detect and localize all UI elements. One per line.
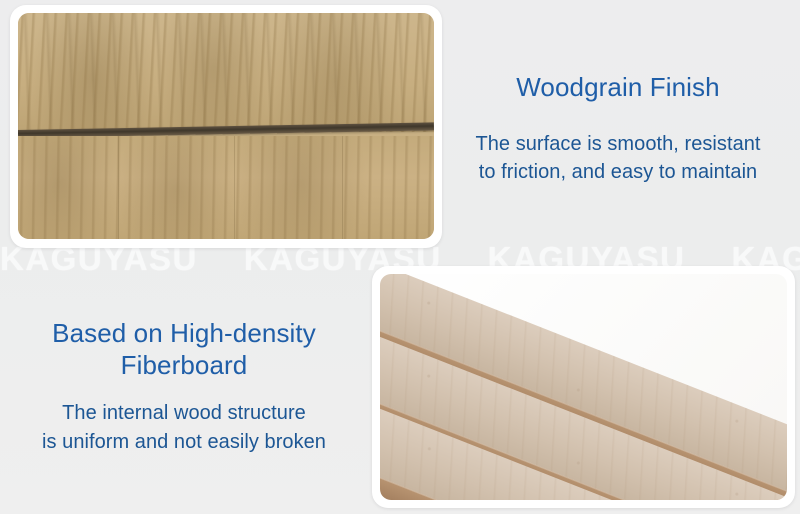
woodgrain-body-line-1: The surface is smooth, resistant <box>442 130 794 158</box>
wood-upper-panel <box>18 13 434 132</box>
fiberboard-photo-image <box>380 274 787 500</box>
woodgrain-feature-text: Woodgrain Finish The surface is smooth, … <box>442 72 794 187</box>
fiberboard-body-line-2: is uniform and not easily broken <box>8 428 360 456</box>
fiberboard-heading-line-1: Based on High-density <box>52 318 316 348</box>
product-feature-graphic: KAGUYASU KAGUYASU KAGUYASU KAGUYASU Wood… <box>0 0 800 514</box>
fiberboard-body-line-1: The internal wood structure <box>8 399 360 427</box>
fiberboard-feature-text: Based on High-density Fiberboard The int… <box>8 318 360 456</box>
fiberboard-photo <box>372 266 795 508</box>
woodgrain-photo <box>10 5 442 248</box>
woodgrain-photo-image <box>18 13 434 239</box>
fiberboard-heading: Based on High-density Fiberboard <box>8 318 360 381</box>
woodgrain-body-line-2: to friction, and easy to maintain <box>442 158 794 186</box>
wood-lower-panel <box>18 136 434 239</box>
wood-scene <box>18 13 434 239</box>
woodgrain-heading: Woodgrain Finish <box>442 72 794 104</box>
mdf-scene <box>380 274 787 500</box>
fiberboard-heading-line-2: Fiberboard <box>121 350 248 380</box>
